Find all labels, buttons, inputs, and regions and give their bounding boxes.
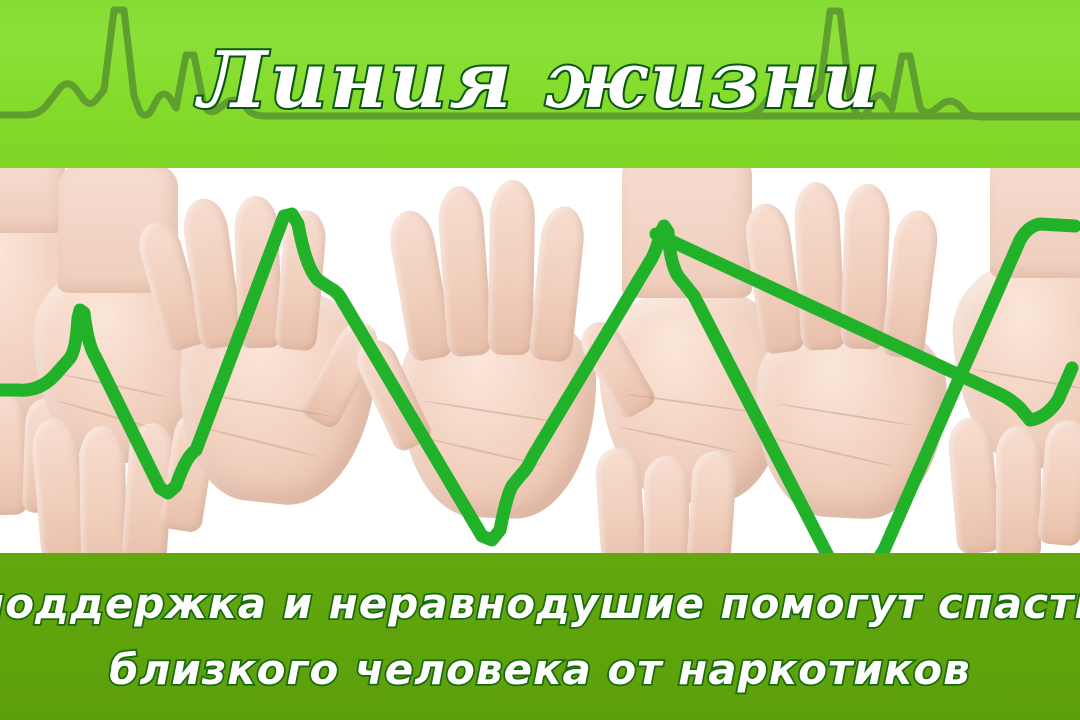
- footer-banner: поддержка и неравнодушие помогут спасти …: [0, 553, 1080, 720]
- footer-slogan-line-1: поддержка и неравнодушие помогут спасти: [0, 578, 1080, 629]
- footer-slogan-line-2: близкого человека от наркотиков: [109, 644, 970, 695]
- poster-root: Линия жизни: [0, 0, 1080, 720]
- poster-title-container: Линия жизни: [0, 0, 1080, 168]
- poster-title: Линия жизни: [198, 42, 881, 120]
- header-banner: Линия жизни: [0, 0, 1080, 168]
- life-line-ecg-overlay-icon: [0, 168, 1080, 553]
- hands-photo: [0, 168, 1080, 553]
